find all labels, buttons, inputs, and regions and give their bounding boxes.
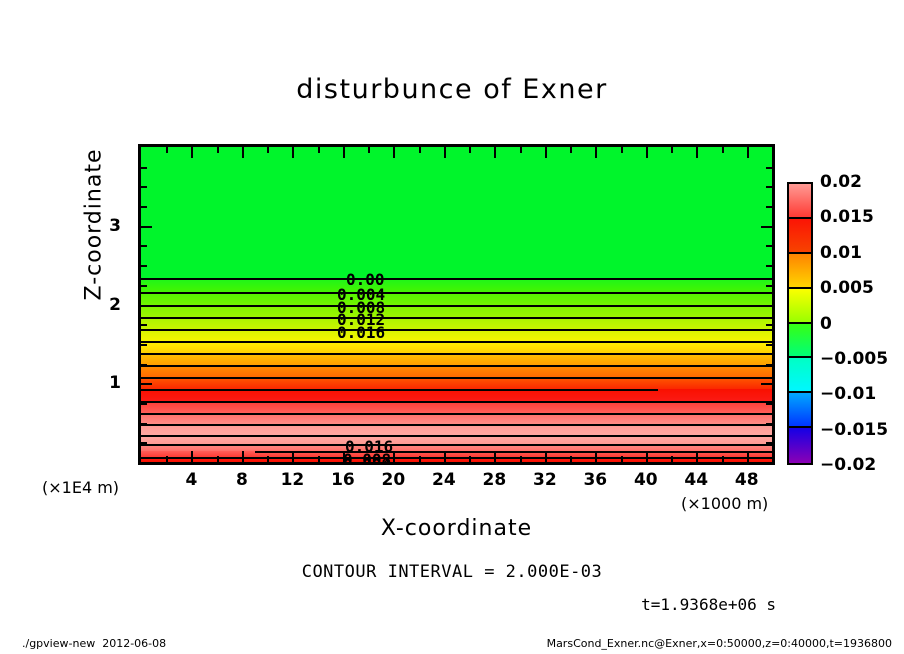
y-tick-minor-2.75-right: [766, 245, 772, 247]
x-tick-28-bottom: [494, 451, 496, 462]
x-tick-minor-34-top: [570, 147, 572, 153]
colorbar-label-2: 0.01: [820, 243, 862, 263]
x-tick-20-bottom: [393, 451, 395, 462]
x-tick-36-bottom: [595, 451, 597, 462]
x-tick-minor-2-bottom: [166, 456, 168, 462]
x-tick-minor-26-top: [469, 147, 471, 153]
y-tick-minor-1.75-left: [141, 324, 147, 326]
x-tick-label-8: 8: [236, 470, 248, 490]
x-tick-12-top: [292, 147, 294, 158]
contour-line-lower-1: [141, 444, 772, 446]
y-tick-1-right: [761, 383, 772, 385]
contour-line-lower-4: [141, 462, 772, 464]
y-tick-minor-1.5-left: [141, 344, 147, 346]
colorbar-cell-band--0.015--0.01: [789, 393, 811, 428]
y-tick-minor-1.25-left: [141, 364, 147, 366]
y-tick-minor-2.25-right: [766, 285, 772, 287]
x-tick-16-top: [343, 147, 345, 158]
contour-interval-note: CONTOUR INTERVAL = 2.000E-03: [0, 562, 904, 582]
y-tick-label-2: 2: [109, 295, 121, 315]
y-tick-2-left: [141, 305, 152, 307]
x-tick-minor-14-bottom: [318, 456, 320, 462]
contour-line-upper-11: [141, 413, 772, 415]
x-tick-minor-22-bottom: [419, 456, 421, 462]
x-tick-minor-14-top: [318, 147, 320, 153]
colorbar-cell-band--0.02--0.015: [789, 428, 811, 463]
x-tick-32-bottom: [545, 451, 547, 462]
x-axis-title: X-coordinate: [138, 516, 775, 541]
contour-line-lower-0: [141, 435, 772, 437]
y-tick-minor-3.75-left: [141, 167, 147, 169]
y-tick-minor-0.25-right: [766, 442, 772, 444]
y-tick-minor-1.25-right: [766, 364, 772, 366]
x-tick-minor-6-top: [217, 147, 219, 153]
x-tick-minor-30-bottom: [520, 456, 522, 462]
colorbar-cell-band-0.01-0.015: [789, 219, 811, 254]
y-tick-minor-1.5-right: [766, 344, 772, 346]
contour-plot-area[interactable]: 0.000.0040.0080.0120.0160.0160.0080.004: [138, 144, 775, 465]
y-tick-minor-2.5-left: [141, 265, 147, 267]
x-tick-8-bottom: [242, 451, 244, 462]
colorbar-label-7: −0.015: [820, 420, 888, 440]
colorbar-label-3: 0.005: [820, 278, 874, 298]
fill-low-orangered: [141, 462, 772, 465]
y-tick-minor-3.5-right: [766, 186, 772, 188]
y-tick-minor-3.75-right: [766, 167, 772, 169]
x-tick-minor-26-bottom: [469, 456, 471, 462]
x-tick-label-4: 4: [186, 470, 198, 490]
x-tick-label-44: 44: [684, 470, 708, 490]
y-tick-minor-0.5-left: [141, 423, 147, 425]
y-axis-title: Z-coordinate: [82, 125, 107, 325]
x-tick-minor-2-top: [166, 147, 168, 153]
x-tick-minor-46-top: [722, 147, 724, 153]
x-tick-minor-42-top: [671, 147, 673, 153]
contour-line-upper-12: [141, 424, 772, 426]
contour-line-upper-9: [141, 389, 658, 391]
footer-command: ./gpview-new 2012-06-08: [22, 637, 166, 650]
contour-line-upper-1: [141, 292, 772, 294]
contour-line-upper-0: [141, 278, 772, 280]
y-tick-1-left: [141, 383, 152, 385]
colorbar-label-6: −0.01: [820, 384, 876, 404]
colorbar-label-1: 0.015: [820, 207, 874, 227]
x-tick-minor-10-top: [267, 147, 269, 153]
x-tick-44-top: [696, 147, 698, 158]
x-tick-minor-38-bottom: [621, 456, 623, 462]
x-tick-4-top: [191, 147, 193, 158]
colorbar[interactable]: [787, 182, 813, 465]
contour-line-lower-3: [141, 457, 772, 459]
contour-line-upper-10: [141, 401, 772, 403]
footer-datasource: MarsCond_Exner.nc@Exner,x=0:50000,z=0:40…: [547, 637, 892, 650]
colorbar-cell-band--0.01--0.005: [789, 358, 811, 393]
x-tick-minor-30-top: [520, 147, 522, 153]
x-tick-label-40: 40: [634, 470, 658, 490]
gpview-figure: disturbunce of Exner 0.000.0040.0080.012…: [0, 0, 904, 654]
x-tick-label-48: 48: [735, 470, 759, 490]
y-tick-minor-0.75-right: [766, 403, 772, 405]
x-tick-label-36: 36: [583, 470, 607, 490]
x-tick-label-24: 24: [432, 470, 456, 490]
colorbar-label-8: −0.02: [820, 455, 876, 475]
contour-line-upper-3: [141, 317, 772, 319]
x-axis-unit-label: (×1000 m): [681, 494, 768, 513]
contour-line-upper-5: [141, 341, 772, 343]
y-tick-minor-2.5-right: [766, 265, 772, 267]
x-tick-label-16: 16: [331, 470, 355, 490]
colorbar-label-4: 0: [820, 314, 832, 334]
y-axis-unit-label: (×1E4 m): [42, 478, 119, 497]
contour-fill-layer: 0.000.0040.0080.0120.0160.0160.0080.004: [141, 147, 772, 462]
y-tick-minor-1.75-right: [766, 324, 772, 326]
contour-line-upper-7: [141, 365, 772, 367]
y-tick-2-right: [761, 305, 772, 307]
contour-line-upper-4: [141, 329, 772, 331]
x-tick-4-bottom: [191, 451, 193, 462]
x-tick-minor-34-bottom: [570, 456, 572, 462]
contour-line-upper-2: [141, 305, 772, 307]
y-tick-label-1: 1: [109, 373, 121, 393]
y-tick-minor-0.5-right: [766, 423, 772, 425]
colorbar-label-0: 0.02: [820, 172, 862, 192]
y-tick-minor-2.25-left: [141, 285, 147, 287]
y-tick-label-3: 3: [109, 216, 121, 236]
fill-green-uniform: [141, 147, 772, 278]
fill-green-1: [141, 278, 772, 292]
y-tick-minor-3.25-right: [766, 206, 772, 208]
y-tick-minor-0.75-left: [141, 403, 147, 405]
x-tick-minor-6-bottom: [217, 456, 219, 462]
x-tick-28-top: [494, 147, 496, 158]
x-tick-minor-18-top: [368, 147, 370, 153]
x-tick-40-top: [646, 147, 648, 158]
time-annotation: t=1.9368e+06 s: [641, 595, 776, 614]
y-tick-minor-3.25-left: [141, 206, 147, 208]
x-tick-20-top: [393, 147, 395, 158]
x-tick-8-top: [242, 147, 244, 158]
x-tick-24-bottom: [444, 451, 446, 462]
y-tick-minor-3.5-left: [141, 186, 147, 188]
contour-label-0-004-7: 0.004: [343, 455, 391, 465]
y-tick-3-right: [761, 226, 772, 228]
x-tick-40-bottom: [646, 451, 648, 462]
x-tick-minor-10-bottom: [267, 456, 269, 462]
contour-line-lower-2: [255, 451, 772, 453]
x-tick-48-bottom: [747, 451, 749, 462]
x-tick-24-top: [444, 147, 446, 158]
x-tick-label-12: 12: [281, 470, 305, 490]
contour-label-0-016-4: 0.016: [337, 323, 385, 342]
colorbar-label-5: −0.005: [820, 349, 888, 369]
y-tick-3-left: [141, 226, 152, 228]
y-tick-minor-0.25-left: [141, 442, 147, 444]
x-tick-36-top: [595, 147, 597, 158]
contour-line-upper-8: [141, 377, 772, 379]
x-tick-44-bottom: [696, 451, 698, 462]
y-tick-minor-2.75-left: [141, 245, 147, 247]
x-tick-minor-42-bottom: [671, 456, 673, 462]
x-tick-label-32: 32: [533, 470, 557, 490]
x-tick-label-28: 28: [483, 470, 507, 490]
x-tick-32-top: [545, 147, 547, 158]
x-tick-minor-22-top: [419, 147, 421, 153]
x-tick-minor-46-bottom: [722, 456, 724, 462]
colorbar-cell-band-0.015-0.02: [789, 184, 811, 219]
x-tick-minor-38-top: [621, 147, 623, 153]
x-tick-48-top: [747, 147, 749, 158]
colorbar-cell-band-0.005-0.01: [789, 254, 811, 289]
x-tick-label-20: 20: [382, 470, 406, 490]
page-title: disturbunce of Exner: [0, 74, 904, 105]
colorbar-cell-band--0.005-0: [789, 324, 811, 359]
colorbar-cell-band-0-0.005: [789, 289, 811, 324]
x-tick-12-bottom: [292, 451, 294, 462]
contour-line-upper-6: [141, 353, 772, 355]
